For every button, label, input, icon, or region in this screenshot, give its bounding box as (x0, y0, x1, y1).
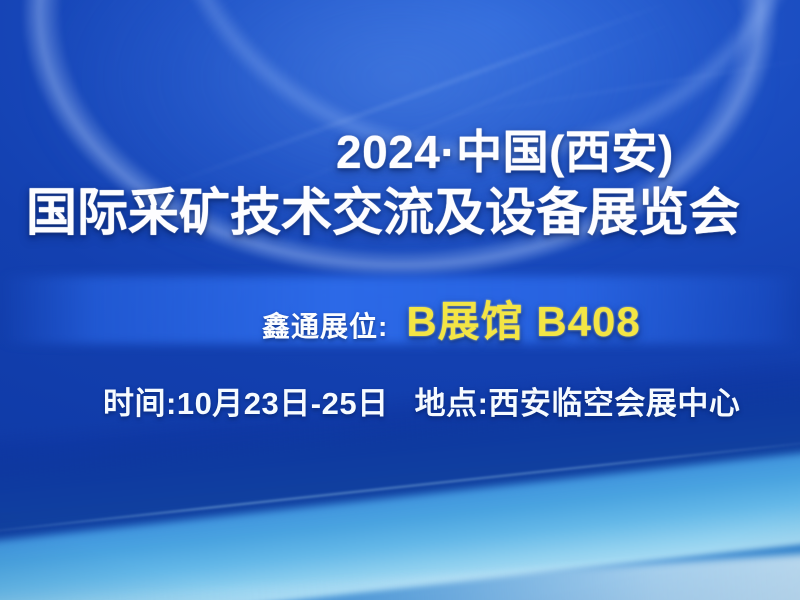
exhibition-banner: 2024·中国(西安) 国际采矿技术交流及设备展览会 鑫通展位: B展馆 B40… (0, 0, 800, 600)
booth-row: 鑫通展位: B展馆 B408 (262, 288, 641, 349)
booth-label: 鑫通展位: (262, 305, 388, 345)
event-meta-row: 时间:10月23日-25日 地点:西安临空会展中心 (103, 378, 740, 423)
event-date: 时间:10月23日-25日 (103, 378, 389, 423)
booth-number: B展馆 B408 (406, 288, 640, 349)
event-venue: 地点:西安临空会展中心 (415, 378, 741, 423)
event-title-line-2: 国际采矿技术交流及设备展览会 (26, 184, 740, 242)
banner-content: 2024·中国(西安) 国际采矿技术交流及设备展览会 鑫通展位: B展馆 B40… (0, 0, 800, 600)
event-title-line-1: 2024·中国(西安) (336, 126, 674, 178)
